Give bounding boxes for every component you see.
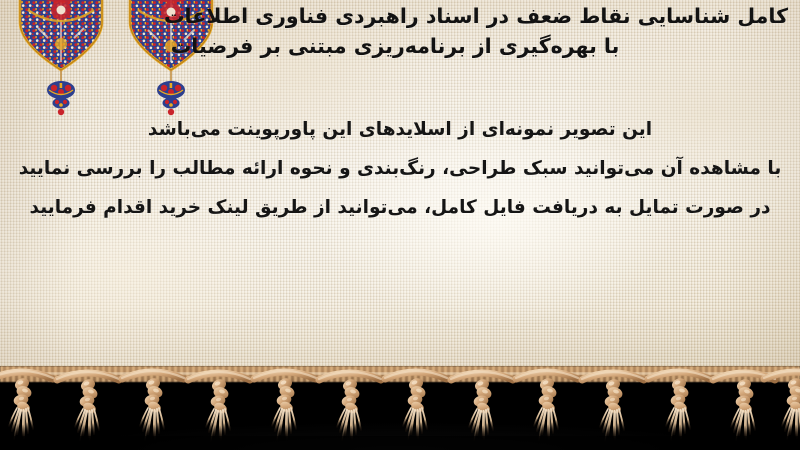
title-line-2: با بهره‌گیری از برنامه‌ریزی مبتنی بر فرض… (8, 32, 792, 62)
title-line-1: کامل شناسایی نقاط ضعف در اسناد راهبردی ف… (8, 2, 792, 32)
slide-title: کامل شناسایی نقاط ضعف در اسناد راهبردی ف… (8, 2, 792, 62)
presentation-slide: کامل شناسایی نقاط ضعف در اسناد راهبردی ف… (0, 0, 800, 450)
tassel-knots-graphic (0, 366, 800, 450)
slide-body: این تصویر نمونه‌ای از اسلایدهای این پاور… (8, 110, 792, 228)
slide-text-layer: کامل شناسایی نقاط ضعف در اسناد راهبردی ف… (0, 0, 800, 382)
body-line-2: با مشاهده آن می‌توانید سبک طراحی، رنگ‌بن… (8, 149, 792, 188)
body-line-1: این تصویر نمونه‌ای از اسلایدهای این پاور… (8, 110, 792, 149)
carpet-tassel-fringe (0, 366, 800, 450)
body-line-3: در صورت تمایل به دریافت فایل کامل، می‌تو… (8, 188, 792, 227)
